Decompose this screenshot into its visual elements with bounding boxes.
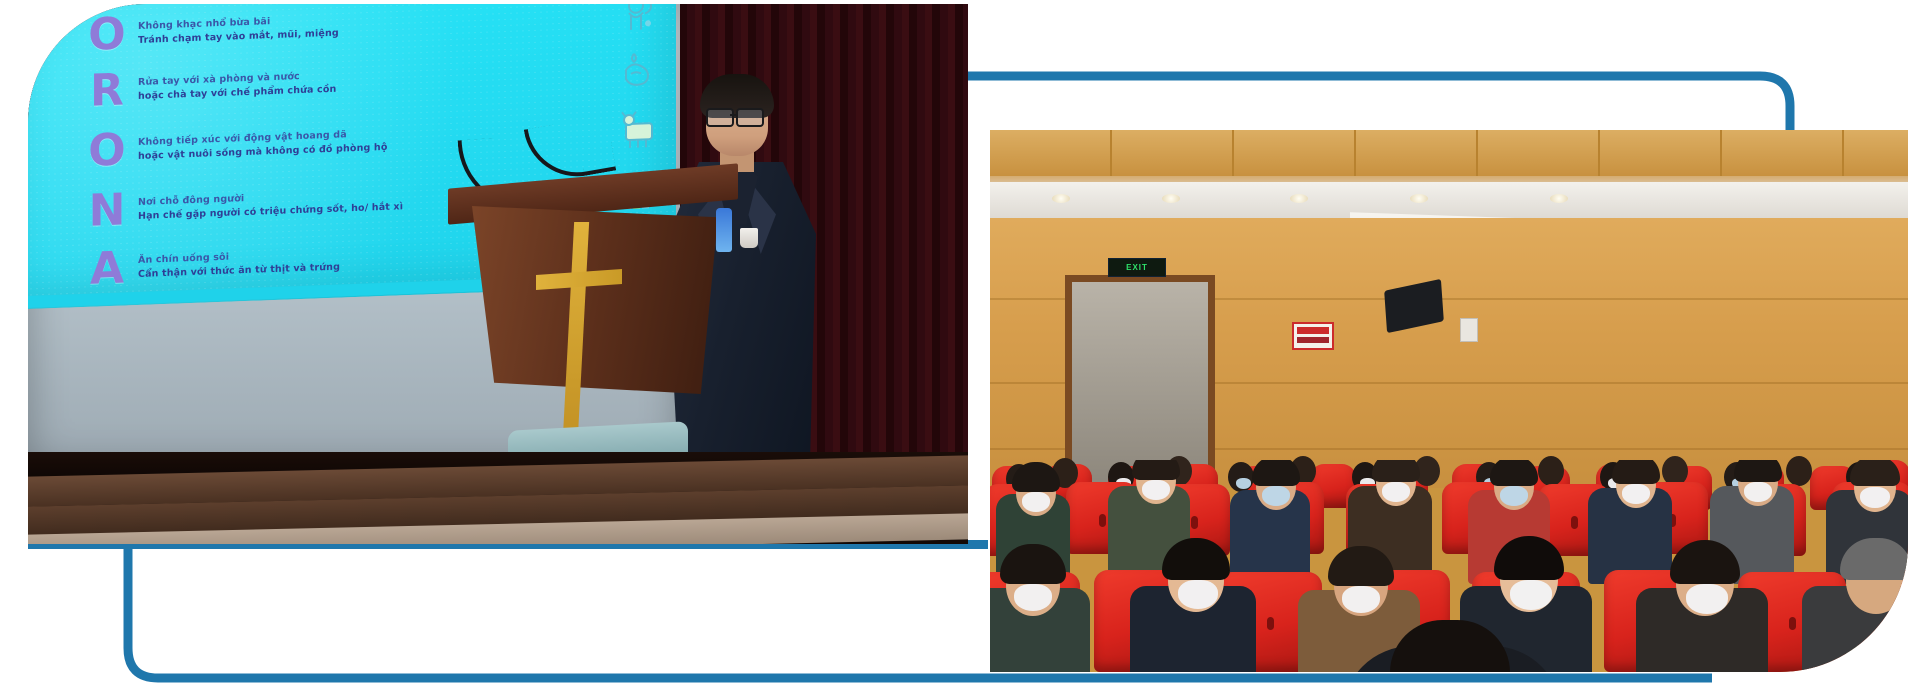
eyeglasses-icon: [706, 108, 768, 124]
water-bottle: [716, 208, 732, 252]
podium-body: [472, 206, 718, 394]
podium: [448, 176, 738, 466]
slide-row-letter: O: [76, 128, 138, 174]
slide-row-text: Rửa tay với xà phòng và nước hoặc chà ta…: [138, 59, 610, 104]
no-spitting-icon: [610, 4, 676, 41]
photo-left-speaker: O Không khạc nhổ bừa bãi Tránh chạm tay …: [28, 4, 968, 544]
slide-row-letter: A: [76, 246, 138, 292]
stage-apron: [28, 452, 968, 544]
downlight: [1410, 194, 1428, 203]
slide-row-letter: O: [76, 12, 138, 58]
slide-row-letter: N: [76, 188, 138, 234]
audience-near-rows: [990, 460, 1908, 672]
photo-right-audience: EXIT: [990, 130, 1908, 672]
downlight: [1162, 194, 1180, 203]
frame-top-rail: [968, 76, 1790, 130]
slide-row-letter: R: [76, 68, 138, 114]
wall-notice-sign: [1292, 322, 1334, 350]
photo-collage-canvas: O Không khạc nhổ bừa bãi Tránh chạm tay …: [0, 0, 1920, 700]
paper-cup: [740, 228, 758, 248]
downlight: [1290, 194, 1308, 203]
exit-sign: EXIT: [1108, 258, 1166, 277]
downlight: [1550, 194, 1568, 203]
exit-sign-label: EXIT: [1126, 263, 1148, 272]
slide-row-text: Không khạc nhổ bừa bãi Tránh chạm tay và…: [138, 4, 610, 48]
downlight: [1052, 194, 1070, 203]
wall-vent: [1460, 318, 1478, 342]
